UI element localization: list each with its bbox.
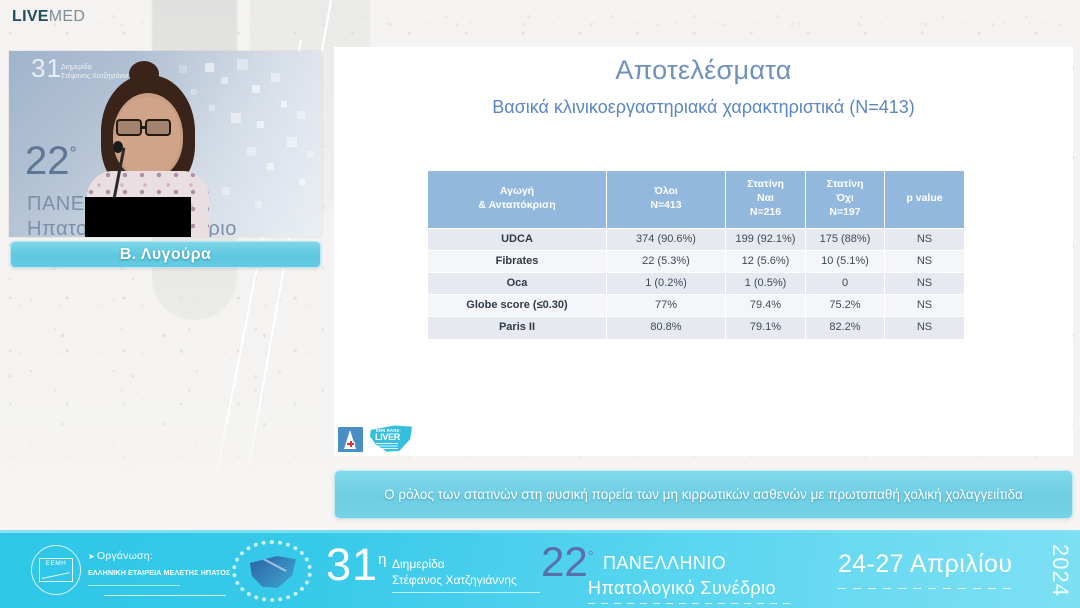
slide-subtitle: Βασικά κλινικοεργαστηριακά χαρακτηριστικ…: [334, 97, 1073, 118]
livemed-logo-med: MED: [49, 8, 85, 25]
meeting-subtitle-line1: Διημερίδα: [392, 556, 517, 572]
results-table: Αγωγή& Ανταπόκριση ΌλοιN=413 ΣτατίνηΝαιN…: [427, 170, 965, 340]
table-cell-value: 12 (5.6%): [726, 251, 805, 272]
eyeglasses-icon: [145, 119, 171, 136]
slide-title: Αποτελέσματα: [334, 55, 1073, 86]
organizer-block: ➤Οργάνωση: ΕΛΛΗΝΙΚΗ ΕΤΑΙΡΕΙΑ ΜΕΛΕΤΗΣ ΗΠΑ…: [88, 550, 230, 596]
meeting-subtitle: Διημερίδα Στέφανος Χατζηγιάννης: [392, 556, 517, 588]
congress-line2: Ηπατολογικό Συνέδριο: [588, 578, 776, 599]
table-row: Fibrates22 (5.3%)12 (5.6%)10 (5.1%)NS: [428, 251, 964, 272]
ern-rare-liver-line2: LIVER: [375, 433, 400, 442]
table-cell-value: 79.1%: [726, 317, 805, 338]
talk-title-bar: Ο ρόλος των στατινών στη φυσική πορεία τ…: [334, 470, 1073, 519]
table-cell-value: 199 (92.1%): [726, 229, 805, 250]
eyeglasses-icon: [116, 119, 142, 136]
table-cell-value: 82.2%: [806, 317, 884, 338]
society-a-logo: [338, 427, 363, 452]
slide-footer-logos: ERN RARE- LIVER: [338, 425, 412, 452]
divider: [838, 588, 1013, 589]
video-banner-congress-number: 22°: [25, 143, 77, 179]
organizer-label-text: Οργάνωση:: [97, 550, 153, 562]
table-row: Paris II80.8%79.1%82.2%NS: [428, 317, 964, 338]
table-cell-label: UDCA: [428, 229, 606, 250]
table-header-statin-yes: ΣτατίνηΝαιN=216: [726, 171, 805, 228]
liver-graphic: [228, 536, 316, 606]
congress-dates: 24-27 Απριλίου: [838, 550, 1012, 579]
speaker-face: [116, 97, 180, 177]
table-cell-value: 75.2%: [806, 295, 884, 316]
congress-year: 2024: [1047, 544, 1073, 597]
medical-cross-icon: [347, 440, 355, 448]
eemh-logo-inner: ΕΕΜΗ: [39, 558, 73, 582]
congress-line1: ΠΑΝΕΛΛΗΝΙΟ: [603, 553, 726, 574]
table-cell-value: NS: [885, 317, 964, 338]
divider: [588, 603, 793, 604]
table-row: Oca1 (0.2%)1 (0.5%)0NS: [428, 273, 964, 294]
table-header-treatment: Αγωγή& Ανταπόκριση: [428, 171, 606, 228]
table-cell-value: 77%: [607, 295, 725, 316]
table-row: Globe score (≤0.30)77%79.4%75.2%NS: [428, 295, 964, 316]
table-cell-label: Fibrates: [428, 251, 606, 272]
livemed-logo-live: LIVE: [12, 8, 49, 25]
table-header-row: Αγωγή& Ανταπόκριση ΌλοιN=413 ΣτατίνηΝαιN…: [428, 171, 964, 228]
table-cell-label: Globe score (≤0.30): [428, 295, 606, 316]
table-cell-value: 374 (90.6%): [607, 229, 725, 250]
table-cell-value: 22 (5.3%): [607, 251, 725, 272]
speaker-name-badge: Β. Λυγούρα: [10, 241, 321, 268]
table-body: UDCA374 (90.6%)199 (92.1%)175 (88%)NSFib…: [428, 229, 964, 339]
table-cell-value: NS: [885, 273, 964, 294]
divider: [392, 592, 540, 593]
table-cell-value: 1 (0.5%): [726, 273, 805, 294]
congress-number-ordinal: °: [588, 548, 594, 565]
table-header-statin-no: ΣτατίνηΌχιN=197: [806, 171, 884, 228]
table-cell-value: 1 (0.2%): [607, 273, 725, 294]
table-cell-value: 175 (88%): [806, 229, 884, 250]
eemh-society-logo: ΕΕΜΗ: [31, 545, 81, 595]
table-cell-value: 0: [806, 273, 884, 294]
table-header-pvalue: p value: [885, 171, 964, 228]
speaker-video[interactable]: 31ΔιημερίδαΣτέφανος Χατζηγιάννης 22° ΠΑΝ…: [9, 51, 322, 237]
organizer-name: ΕΛΛΗΝΙΚΗ ΕΤΑΙΡΕΙΑ ΜΕΛΕΤΗΣ ΗΠΑΤΟΣ: [88, 568, 230, 577]
congress-footer-banner: ΕΕΜΗ ➤Οργάνωση: ΕΛΛΗΝΙΚΗ ΕΤΑΙΡΕΙΑ ΜΕΛΕΤΗ…: [0, 530, 1080, 608]
meeting-subtitle-line2: Στέφανος Χατζηγιάννης: [392, 572, 517, 588]
divider: [104, 595, 226, 596]
meeting-number: 31η: [326, 542, 387, 587]
table-row: UDCA374 (90.6%)199 (92.1%)175 (88%)NS: [428, 229, 964, 250]
table-header-all: ΌλοιN=413: [607, 171, 725, 228]
congress-number-value: 22: [541, 538, 588, 585]
presentation-slide[interactable]: Αποτελέσματα Βασικά κλινικοεργαστηριακά …: [334, 47, 1073, 456]
eemh-logo-text: ΕΕΜΗ: [46, 560, 66, 567]
table-cell-value: NS: [885, 295, 964, 316]
arrow-icon: ➤: [88, 552, 95, 561]
table-cell-value: 10 (5.1%): [806, 251, 884, 272]
laptop-screen: [85, 197, 191, 237]
table-cell-value: 79.4%: [726, 295, 805, 316]
ern-rare-liver-stripes: [376, 443, 398, 449]
congress-number: 22°: [541, 541, 594, 583]
eyeglasses-bridge: [142, 126, 147, 129]
divider: [88, 585, 180, 586]
meeting-number-ordinal: η: [378, 551, 387, 568]
table-cell-value: NS: [885, 229, 964, 250]
table-cell-label: Oca: [428, 273, 606, 294]
table-cell-value: 80.8%: [607, 317, 725, 338]
organizer-label: ➤Οργάνωση:: [88, 550, 230, 562]
ern-rare-liver-logo: ERN RARE- LIVER: [370, 425, 412, 452]
table-cell-label: Paris II: [428, 317, 606, 338]
meeting-number-value: 31: [326, 539, 378, 590]
table-cell-value: NS: [885, 251, 964, 272]
livemed-logo: LIVEMED: [12, 9, 85, 25]
